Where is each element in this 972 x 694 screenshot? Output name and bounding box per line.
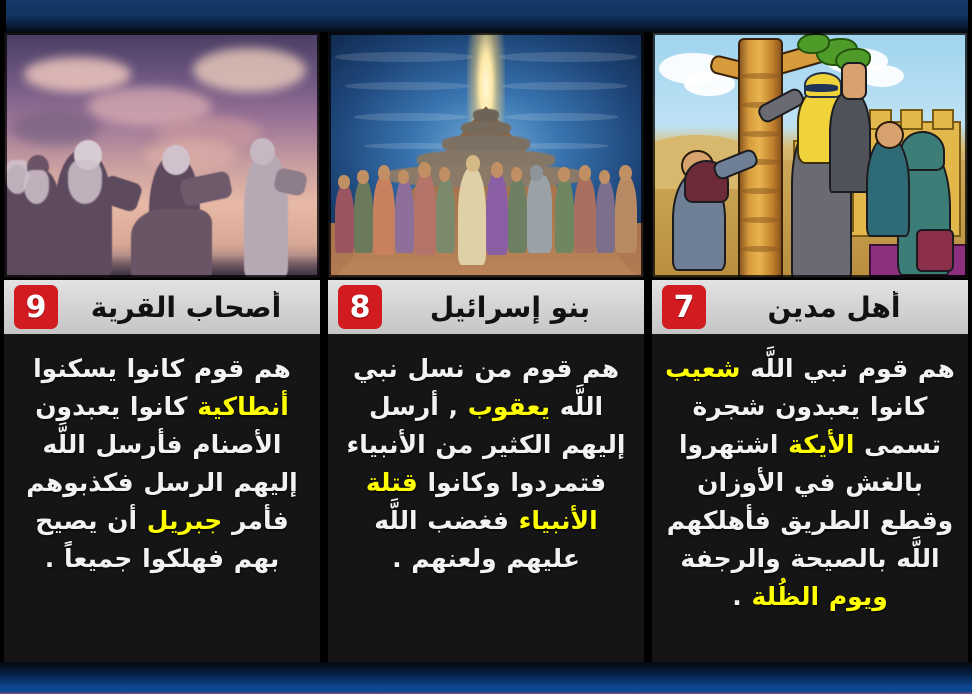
highlighted-term: ويوم الظُلة <box>751 582 887 611</box>
distant-crowd <box>461 121 511 136</box>
figure-head <box>338 175 349 190</box>
panel-number-badge: 7 <box>662 285 706 329</box>
crowd-figure <box>354 179 373 252</box>
tree-worship-scene <box>653 33 967 277</box>
robe-drape <box>131 209 213 277</box>
sunset-cloud <box>24 57 131 91</box>
standing-figure <box>866 135 911 237</box>
lead-figure <box>458 167 486 265</box>
panel-title: أصحاب القرية <box>58 291 314 324</box>
panel-title: أهل مدين <box>706 291 962 324</box>
panel-grid: أهل مدين 7 هم قوم نبي اللَّه شعيب كانوا … <box>4 32 968 662</box>
wall-merlon <box>932 109 955 130</box>
highlighted-term: يعقوب <box>468 392 550 421</box>
worshipper-figure <box>829 92 871 194</box>
panel-number-badge: 8 <box>338 285 382 329</box>
highlighted-term: الأيكة <box>788 430 854 459</box>
raised-hand <box>841 62 867 100</box>
panel-title: بنو إسرائيل <box>382 291 638 324</box>
figure-head <box>619 165 632 181</box>
figure-head <box>579 165 592 181</box>
panel-ashab-alqarya: أصحاب القرية 9 هم قوم كانوا يسكنوا أنطاك… <box>4 32 320 662</box>
red-sea-parting-illustration <box>328 32 644 278</box>
crowd-figure <box>373 175 395 256</box>
panel-ahl-madyan: أهل مدين 7 هم قوم نبي اللَّه شعيب كانوا … <box>652 32 968 662</box>
wall-merlon <box>900 109 923 130</box>
figure-head <box>162 145 190 174</box>
crowd-figure <box>335 184 354 252</box>
panel-banu-israil: بنو إسرائيل 8 هم قوم من نسل نبي اللَّه ي… <box>328 32 644 662</box>
figure-head <box>466 155 480 172</box>
crowd-figure <box>555 177 574 253</box>
figure-head <box>558 167 569 182</box>
cap-band <box>804 84 839 91</box>
tree-foliage <box>797 33 829 54</box>
panel-header: أهل مدين 7 <box>652 280 968 334</box>
figure-beard <box>68 160 103 204</box>
bottom-decorative-band <box>0 662 972 694</box>
donkey-head <box>530 165 543 181</box>
crowd-figure <box>615 175 637 253</box>
panel-description: هم قوم كانوا يسكنوا أنطاكية كانوا يعبدون… <box>4 334 320 662</box>
highlighted-term: شعيب <box>665 354 740 383</box>
panel-number-badge: 9 <box>14 285 58 329</box>
crowd-figure <box>395 179 414 252</box>
figure-beard <box>24 170 49 204</box>
distant-crowd <box>473 109 498 121</box>
highlighted-term: أنطاكية <box>197 392 289 421</box>
crowd-figure <box>508 177 527 253</box>
panel-header: بنو إسرائيل 8 <box>328 280 644 334</box>
body-text-run: هم قوم نبي اللَّه <box>741 354 955 383</box>
crowd-figure <box>414 172 436 255</box>
figure-head <box>439 167 450 182</box>
right-frame-edge <box>968 0 972 694</box>
figure-head <box>250 138 275 165</box>
panel-header: أصحاب القرية 9 <box>4 280 320 334</box>
sunset-silhouettes-illustration <box>4 32 320 278</box>
body-text-run: هم قوم كانوا يسكنوا <box>33 354 291 383</box>
red-sea-scene <box>329 33 643 277</box>
body-text-run: . <box>732 582 751 611</box>
figure-head <box>378 165 391 181</box>
crowd-figure <box>596 179 615 252</box>
sunset-scene <box>5 33 319 277</box>
panel-description: هم قوم من نسل نبي اللَّه يعقوب , أرسل إل… <box>328 334 644 662</box>
highlighted-term: جبريل <box>147 506 222 535</box>
tree-worship-illustration <box>652 32 968 278</box>
crowd-figure <box>574 175 596 253</box>
donkey-figure <box>527 175 552 253</box>
figure-head <box>357 170 368 185</box>
crowd-figure <box>486 172 508 255</box>
panel-description: هم قوم نبي اللَّه شعيب كانوا يعبدون شجرة… <box>652 334 968 662</box>
top-decorative-band <box>0 0 972 32</box>
crowd-figure <box>436 177 455 253</box>
sunset-cloud <box>193 48 306 92</box>
sash <box>916 229 955 272</box>
